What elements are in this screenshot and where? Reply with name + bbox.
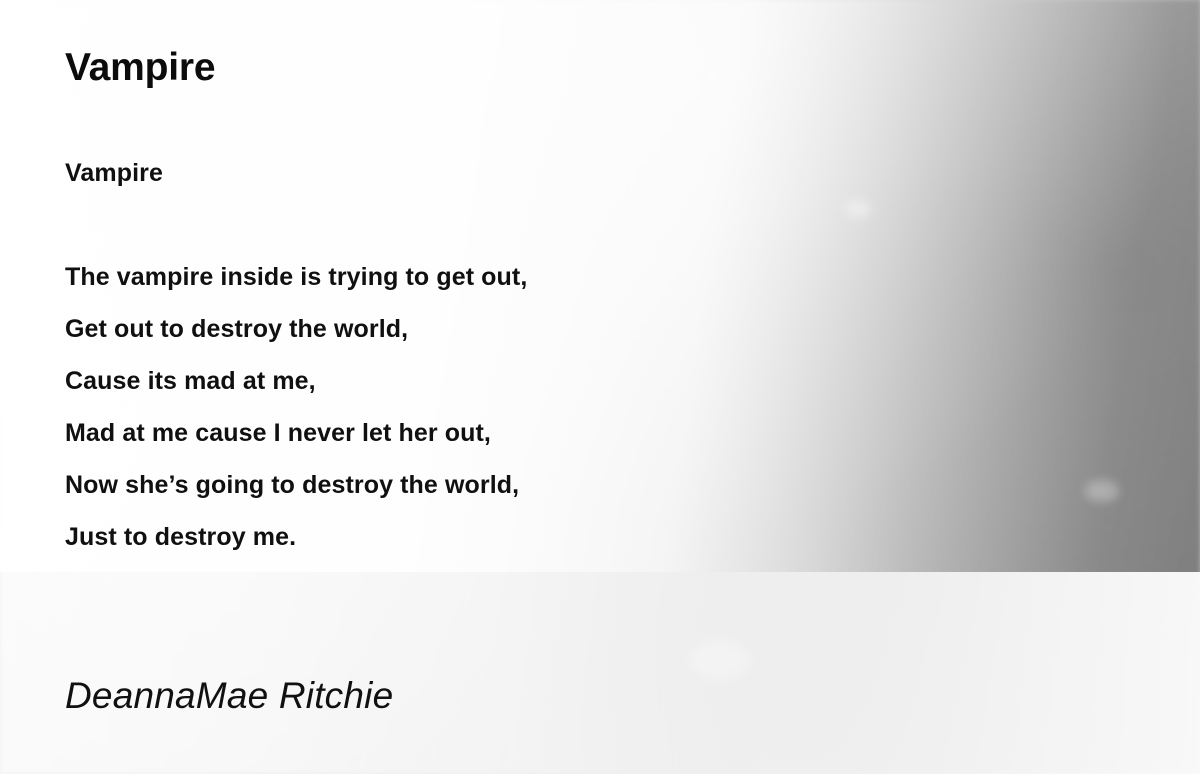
- author-band-panel: [0, 572, 1200, 774]
- poem-line: Cause its mad at me,: [65, 355, 965, 407]
- poem-line: The vampire inside is trying to get out,: [65, 251, 965, 303]
- poem-line: Get out to destroy the world,: [65, 303, 965, 355]
- poem-line: Mad at me cause I never let her out,: [65, 407, 965, 459]
- poem-content: Vampire Vampire The vampire inside is tr…: [65, 46, 965, 563]
- poem-image-card: Vampire Vampire The vampire inside is tr…: [0, 0, 1200, 774]
- poem-spacer-line: [65, 199, 965, 251]
- poem-line: Just to destroy me.: [65, 511, 965, 563]
- poem-body: Vampire The vampire inside is trying to …: [65, 147, 965, 563]
- poem-stanza-heading: Vampire: [65, 147, 965, 199]
- page-title: Vampire: [65, 46, 965, 91]
- author-name: DeannaMae Ritchie: [65, 676, 393, 717]
- poem-line: Now she’s going to destroy the world,: [65, 459, 965, 511]
